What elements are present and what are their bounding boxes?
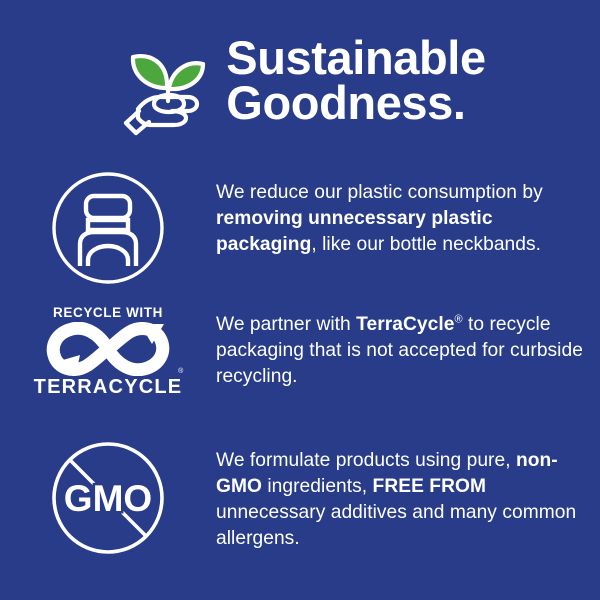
gmo-label: GMO <box>64 478 152 519</box>
hand-holding-sprout-icon <box>114 31 220 137</box>
feature-text-gmo: We formulate products using pure, non-GM… <box>216 438 600 552</box>
feature-text-terracycle: We partner with TerraCycle® to recycle p… <box>216 300 600 390</box>
sustainability-infographic: Sustainable Goodness. We reduce our plas… <box>0 0 600 600</box>
feature-row-plastic: We reduce our plastic consumption by rem… <box>0 168 600 291</box>
terracycle-bottom-label: TERRACYCLE <box>34 376 183 398</box>
terracycle-wordmark: TERRACYCLE ® <box>34 376 183 398</box>
page-title: Sustainable Goodness. <box>226 35 485 129</box>
gmo-icon-cell: GMO <box>0 438 216 561</box>
bottle-icon-cell <box>0 168 216 291</box>
infinity-recycle-mark-icon <box>40 322 176 376</box>
feature-row-gmo: GMO We formulate products using pure, no… <box>0 438 600 561</box>
bottle-in-circle-icon <box>50 170 166 291</box>
feature-row-terracycle: RECYCLE WITH TERRACYCLE ® We <box>0 300 600 398</box>
terracycle-logo-icon: RECYCLE WITH TERRACYCLE ® <box>38 305 178 398</box>
no-gmo-icon: GMO <box>50 440 166 561</box>
terracycle-top-label: RECYCLE WITH <box>53 305 163 320</box>
feature-text-plastic: We reduce our plastic consumption by rem… <box>216 168 600 258</box>
terracycle-icon-cell: RECYCLE WITH TERRACYCLE ® <box>0 300 216 398</box>
header: Sustainable Goodness. <box>0 22 600 142</box>
registered-mark: ® <box>178 368 183 375</box>
